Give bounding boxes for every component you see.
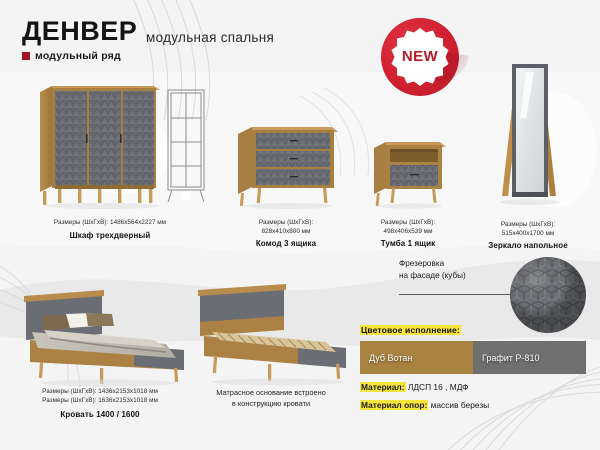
nightstand-name: Тумба 1 ящик: [356, 239, 460, 248]
milling-line-2: на фасаде (кубы): [399, 270, 519, 282]
material-label: Материал:: [360, 382, 406, 392]
milling-callout: Фрезеровка на фасаде (кубы): [399, 258, 519, 283]
mattress-note-line2: в конструкцию кровати: [186, 399, 356, 410]
legs-material-line: Материал опор: массив березы: [360, 400, 592, 410]
swatch-graphite-label: Графит Р-810: [473, 353, 539, 363]
wardrobe-dimensions: Размеры (ШхГхВ): 1486x564x2227 мм: [10, 219, 210, 228]
bed-made-illustration: [16, 288, 202, 393]
wardrobe-name: Шкаф трехдверный: [10, 231, 210, 240]
wardrobe-3door-icon: [10, 78, 210, 210]
legs-material-value: массив березы: [431, 400, 490, 410]
dresser-3drawer-icon: [222, 108, 350, 210]
red-square-bullet-icon: [22, 52, 30, 60]
info-panel: Цветовое исполнение: Дуб Вотан Графит Р-…: [360, 325, 592, 410]
dresser-dimensions: Размеры (ШхГхВ): 828x410x800 мм: [222, 219, 350, 236]
mirror-name: Зеркало напольное: [464, 241, 592, 250]
modular-row-label: модульный ряд: [35, 50, 121, 62]
bed-dimensions-1400: Размеры (ШхГхВ): 1436x2153x1018 мм: [10, 388, 190, 397]
color-heading-text: Цветовое исполнение:: [360, 325, 461, 335]
legs-material-label: Материал опор:: [360, 400, 428, 410]
page-title: ДЕНВЕР: [22, 18, 137, 45]
color-swatches: Дуб Вотан Графит Р-810: [360, 341, 586, 374]
badge-label: NEW: [381, 48, 459, 65]
mattress-note-line1: Матрасное основание встроено: [186, 388, 356, 399]
nightstand-icon: [356, 126, 460, 210]
bed-frame-slats-icon: [186, 284, 368, 388]
swatch-oak-label: Дуб Вотан: [360, 353, 412, 363]
new-badge: NEW: [381, 18, 459, 96]
product-dresser: Размеры (ШхГхВ): 828x410x800 мм Комод 3 …: [222, 108, 350, 248]
page-subtitle: модульная спальня: [146, 30, 274, 45]
product-mirror: Размеры (ШхГхВ): 515x400x1700 мм Зеркало…: [464, 56, 592, 250]
material-value: ЛДСП 16 , МДФ: [408, 382, 469, 392]
modular-row-tag: модульный ряд: [22, 50, 121, 62]
material-line: Материал: ЛДСП 16 , МДФ: [360, 382, 592, 392]
bed-with-bedding-icon: [16, 288, 202, 388]
swatch-graphite: Графит Р-810: [473, 341, 586, 374]
dresser-name: Комод 3 ящика: [222, 239, 350, 248]
milling-leader-line: [399, 294, 517, 295]
milling-line-1: Фрезеровка: [399, 258, 519, 270]
bed-label-block: Размеры (ШхГхВ): 1436x2153x1018 мм Разме…: [10, 388, 190, 419]
bed-frame-illustration: [186, 284, 368, 393]
bed-name: Кровать 1400 / 1600: [10, 410, 190, 419]
mattress-base-note: Матрасное основание встроено в конструкц…: [186, 388, 356, 409]
color-heading: Цветовое исполнение:: [360, 325, 592, 335]
product-nightstand: Размеры (ШхГхВ): 498x406x539 мм Тумба 1 …: [356, 126, 460, 248]
floor-mirror-icon: [464, 56, 592, 210]
catalog-sheet: ДЕНВЕР модульная спальня модульный ряд N…: [0, 0, 600, 450]
nightstand-dimensions: Размеры (ШхГхВ): 498x406x539 мм: [356, 219, 460, 236]
swatch-oak-votan: Дуб Вотан: [360, 341, 473, 374]
milling-pattern-swatch: [510, 257, 586, 333]
cube-pattern-icon: [510, 257, 586, 333]
product-wardrobe: Размеры (ШхГхВ): 1486x564x2227 мм Шкаф т…: [10, 78, 210, 240]
mirror-dimensions: Размеры (ШхГхВ): 515x400x1700 мм: [464, 221, 592, 238]
bed-dimensions-1600: Размеры (ШхГхВ): 1636x2153x1018 мм: [10, 397, 190, 406]
